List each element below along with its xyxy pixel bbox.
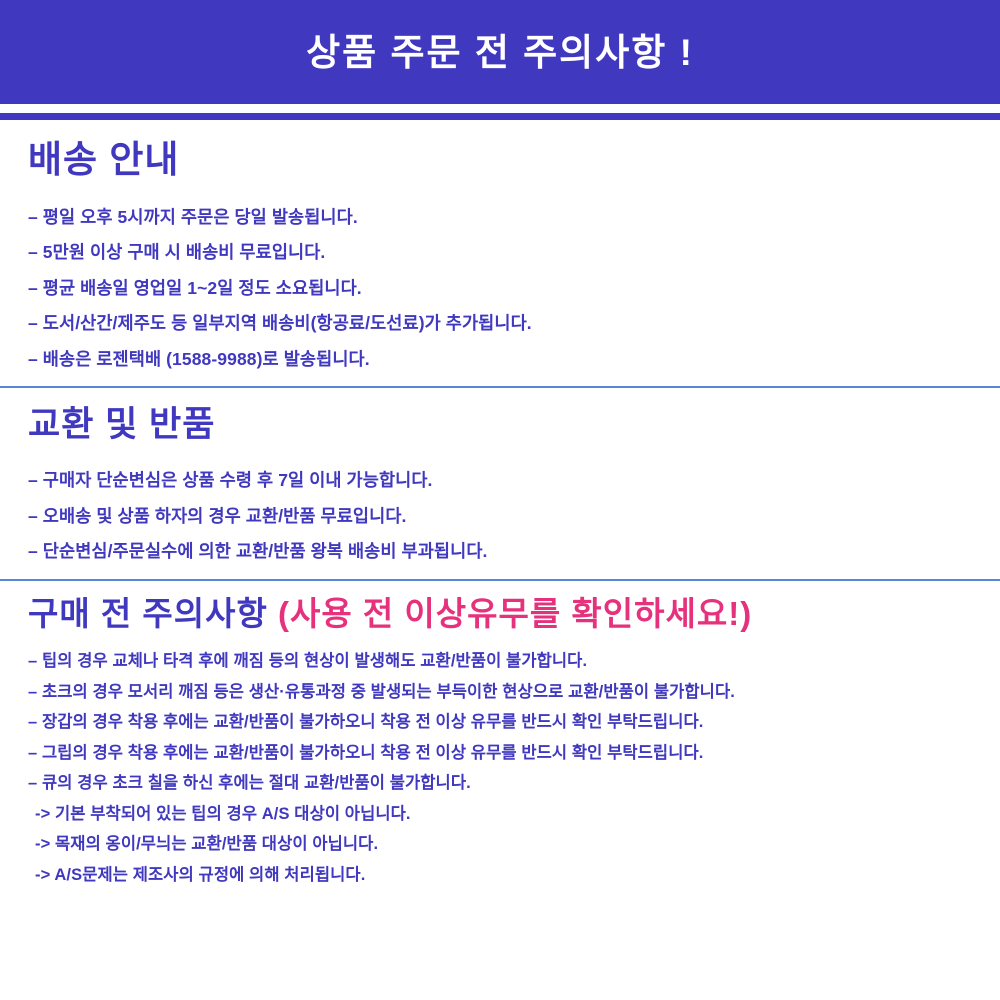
- section-heading-main-text: 구매 전 주의사항: [28, 595, 278, 632]
- section-heading-exchange-return: 교환 및 반품: [28, 407, 1000, 444]
- exchange-return-notice-list: – 구매자 단순변심은 상품 수령 후 7일 이내 가능합니다. – 오배송 및…: [28, 472, 1000, 561]
- page-title: 상품 주문 전 주의사항 !: [306, 34, 694, 71]
- notice-page: 상품 주문 전 주의사항 ! 배송 안내 – 평일 오후 5시까지 주문은 당일…: [0, 0, 1000, 1000]
- section-purchase-precautions: 구매 전 주의사항 (사용 전 이상유무를 확인하세요!) – 팁의 경우 교체…: [0, 581, 1000, 884]
- section-shipping: 배송 안내 – 평일 오후 5시까지 주문은 당일 발송됩니다. – 5만원 이…: [0, 120, 1000, 368]
- list-item: – 그립의 경우 착용 후에는 교환/반품이 불가하오니 착용 전 이상 유무를…: [28, 745, 1000, 762]
- list-item: – 구매자 단순변심은 상품 수령 후 7일 이내 가능합니다.: [28, 472, 1000, 490]
- section-heading-purchase-precautions: 구매 전 주의사항 (사용 전 이상유무를 확인하세요!): [28, 597, 1000, 632]
- shipping-notice-list: – 평일 오후 5시까지 주문은 당일 발송됩니다. – 5만원 이상 구매 시…: [28, 209, 1000, 369]
- list-item: – 팁의 경우 교체나 타격 후에 깨짐 등의 현상이 발생해도 교환/반품이 …: [28, 653, 1000, 670]
- list-item: -> A/S문제는 제조사의 규정에 의해 처리됩니다.: [28, 867, 1000, 884]
- list-item: – 배송은 로젠택배 (1588-9988)로 발송됩니다.: [28, 351, 1000, 369]
- list-item: – 단순변심/주문실수에 의한 교환/반품 왕복 배송비 부과됩니다.: [28, 543, 1000, 561]
- list-item: – 도서/산간/제주도 등 일부지역 배송비(항공료/도선료)가 추가됩니다.: [28, 315, 1000, 333]
- list-item: – 장갑의 경우 착용 후에는 교환/반품이 불가하오니 착용 전 이상 유무를…: [28, 714, 1000, 731]
- page-header-banner: 상품 주문 전 주의사항 !: [0, 0, 1000, 104]
- section-heading-shipping: 배송 안내: [28, 141, 1000, 180]
- list-item: – 평일 오후 5시까지 주문은 당일 발송됩니다.: [28, 209, 1000, 227]
- list-item: – 초크의 경우 모서리 깨짐 등은 생산·유통과정 중 발생되는 부득이한 현…: [28, 684, 1000, 701]
- list-item: – 오배송 및 상품 하자의 경우 교환/반품 무료입니다.: [28, 508, 1000, 526]
- list-item: – 평균 배송일 영업일 1~2일 정도 소요됩니다.: [28, 280, 1000, 298]
- header-white-gap: [0, 104, 1000, 113]
- section-exchange-return: 교환 및 반품 – 구매자 단순변심은 상품 수령 후 7일 이내 가능합니다.…: [0, 388, 1000, 560]
- header-accent-rule: [0, 113, 1000, 120]
- list-item: – 큐의 경우 초크 칠을 하신 후에는 절대 교환/반품이 불가합니다.: [28, 775, 1000, 792]
- list-item: -> 기본 부착되어 있는 팁의 경우 A/S 대상이 아닙니다.: [28, 806, 1000, 823]
- section-heading-accent-text: (사용 전 이상유무를 확인하세요!): [278, 595, 752, 632]
- list-item: -> 목재의 옹이/무늬는 교환/반품 대상이 아닙니다.: [28, 836, 1000, 853]
- list-item: – 5만원 이상 구매 시 배송비 무료입니다.: [28, 244, 1000, 262]
- purchase-precautions-list: – 팁의 경우 교체나 타격 후에 깨짐 등의 현상이 발생해도 교환/반품이 …: [28, 653, 1000, 883]
